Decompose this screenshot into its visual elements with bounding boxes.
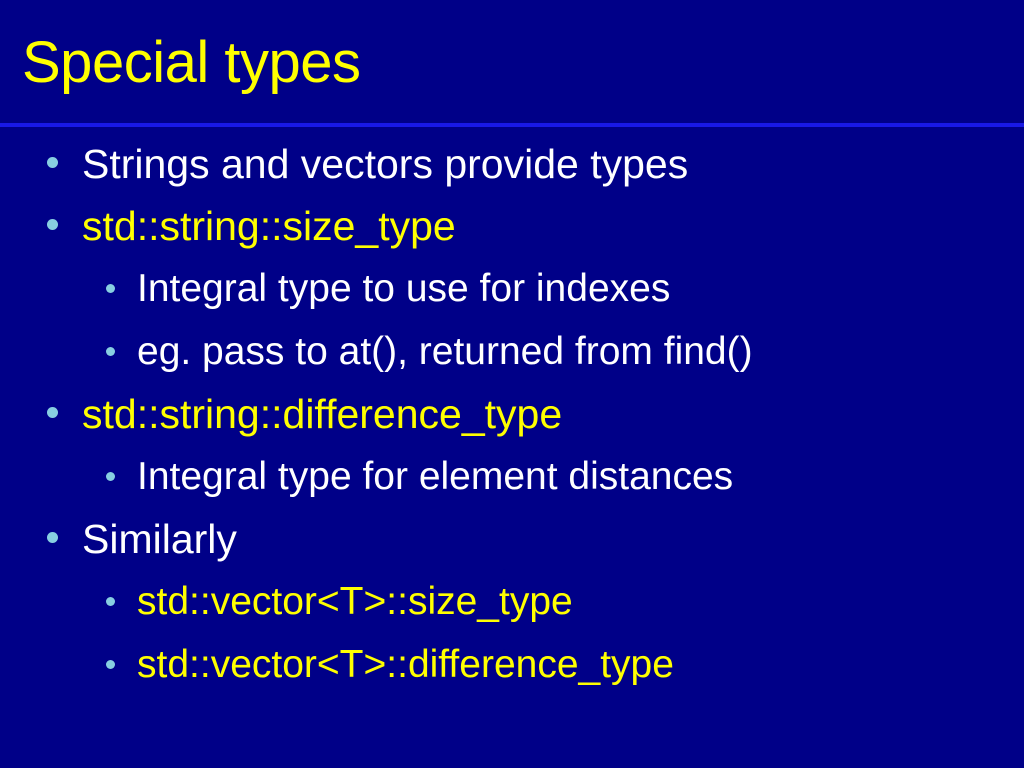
bullet-item: Strings and vectors provide types bbox=[0, 133, 1024, 195]
bullet-item-label: std::string::difference_type bbox=[82, 383, 1024, 445]
title-divider bbox=[0, 123, 1024, 127]
bullet-item: std::string::difference_type bbox=[0, 383, 1024, 445]
bullet-item-label: std::vector<T>::size_type bbox=[137, 570, 1024, 633]
slide-title-area: Special types bbox=[0, 0, 1024, 125]
bullet-dot-icon bbox=[47, 407, 58, 418]
bullet-item: Integral type to use for indexes bbox=[0, 257, 1024, 320]
bullet-dot-icon bbox=[47, 219, 58, 230]
bullet-dot-icon bbox=[106, 284, 115, 293]
bullet-item-label: std::string::size_type bbox=[82, 195, 1024, 257]
bullet-dot-icon bbox=[106, 347, 115, 356]
bullet-dot-icon bbox=[106, 660, 115, 669]
bullet-item: std::vector<T>::size_type bbox=[0, 570, 1024, 633]
bullet-dot-icon bbox=[47, 157, 58, 168]
bullet-dot-icon bbox=[47, 532, 58, 543]
slide-body-bullet-list: Strings and vectors provide typesstd::st… bbox=[0, 133, 1024, 768]
bullet-item-label: Strings and vectors provide types bbox=[82, 133, 1024, 195]
bullet-dot-icon bbox=[106, 472, 115, 481]
bullet-item-label: std::vector<T>::difference_type bbox=[137, 633, 1024, 696]
page-title: Special types bbox=[22, 34, 360, 92]
bullet-item-label: Integral type to use for indexes bbox=[137, 257, 1024, 320]
bullet-item: Similarly bbox=[0, 508, 1024, 570]
bullet-item: std::vector<T>::difference_type bbox=[0, 633, 1024, 696]
bullet-dot-icon bbox=[106, 597, 115, 606]
bullet-item: Integral type for element distances bbox=[0, 445, 1024, 508]
presentation-slide: Special types Strings and vectors provid… bbox=[0, 0, 1024, 768]
bullet-item: eg. pass to at(), returned from find() bbox=[0, 320, 1024, 383]
bullet-item-label: eg. pass to at(), returned from find() bbox=[137, 320, 1024, 383]
bullet-item-label: Similarly bbox=[82, 508, 1024, 570]
bullet-item: std::string::size_type bbox=[0, 195, 1024, 257]
bullet-item-label: Integral type for element distances bbox=[137, 445, 1024, 508]
